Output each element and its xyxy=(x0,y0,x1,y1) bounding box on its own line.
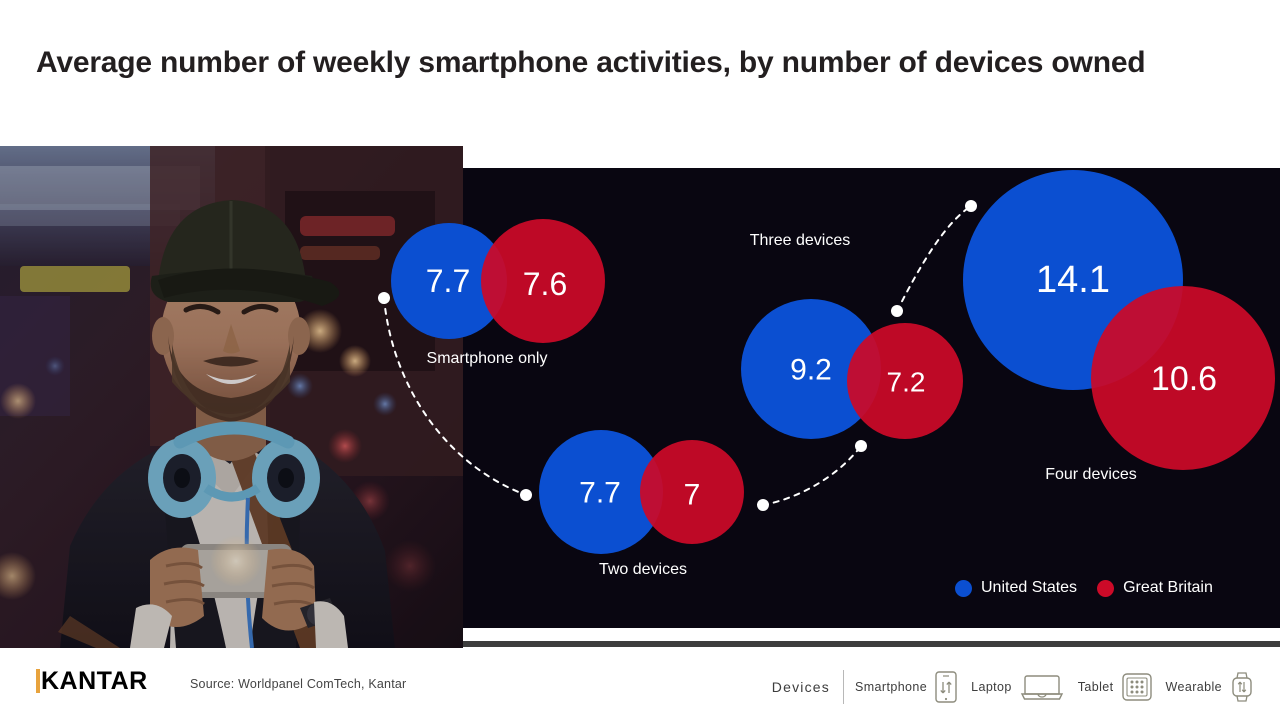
devices-label: Devices xyxy=(772,679,843,695)
circle-dot-icon xyxy=(955,580,972,597)
legend-label: Great Britain xyxy=(1123,579,1213,597)
logo-accent-bar xyxy=(36,669,40,693)
chart-legend: United States Great Britain xyxy=(955,579,1213,597)
device-item-wearable: Wearable xyxy=(1166,670,1255,704)
hero-photo xyxy=(0,146,463,648)
smartphone-icon xyxy=(934,670,958,704)
device-item-smartphone: Smartphone xyxy=(855,670,958,704)
devices-legend: Devices Smartphone Laptop xyxy=(772,670,1268,704)
device-label: Wearable xyxy=(1166,680,1222,694)
legend-item-great-britain[interactable]: Great Britain xyxy=(1097,579,1213,597)
device-label: Smartphone xyxy=(855,680,927,694)
device-item-laptop: Laptop xyxy=(971,672,1065,702)
legend-item-united-states[interactable]: United States xyxy=(955,579,1077,597)
source-note: Source: Worldpanel ComTech, Kantar xyxy=(190,677,406,691)
circle-dot-icon xyxy=(1097,580,1114,597)
devices-divider xyxy=(843,670,844,704)
page-title: Average number of weekly smartphone acti… xyxy=(36,44,1176,82)
smartwatch-icon xyxy=(1229,670,1255,704)
slide-root: Average number of weekly smartphone acti… xyxy=(0,0,1280,720)
device-item-tablet: Tablet xyxy=(1078,672,1153,702)
footer-divider-rule xyxy=(463,641,1280,647)
laptop-icon xyxy=(1019,672,1065,702)
logo-wordmark: KANTAR xyxy=(41,669,148,693)
kantar-logo: KANTAR xyxy=(36,669,148,693)
legend-label: United States xyxy=(981,579,1077,597)
chart-panel xyxy=(463,168,1280,628)
device-label: Laptop xyxy=(971,680,1012,694)
tablet-icon xyxy=(1121,672,1153,702)
footer: KANTAR Source: Worldpanel ComTech, Kanta… xyxy=(0,648,1280,720)
device-label: Tablet xyxy=(1078,680,1114,694)
